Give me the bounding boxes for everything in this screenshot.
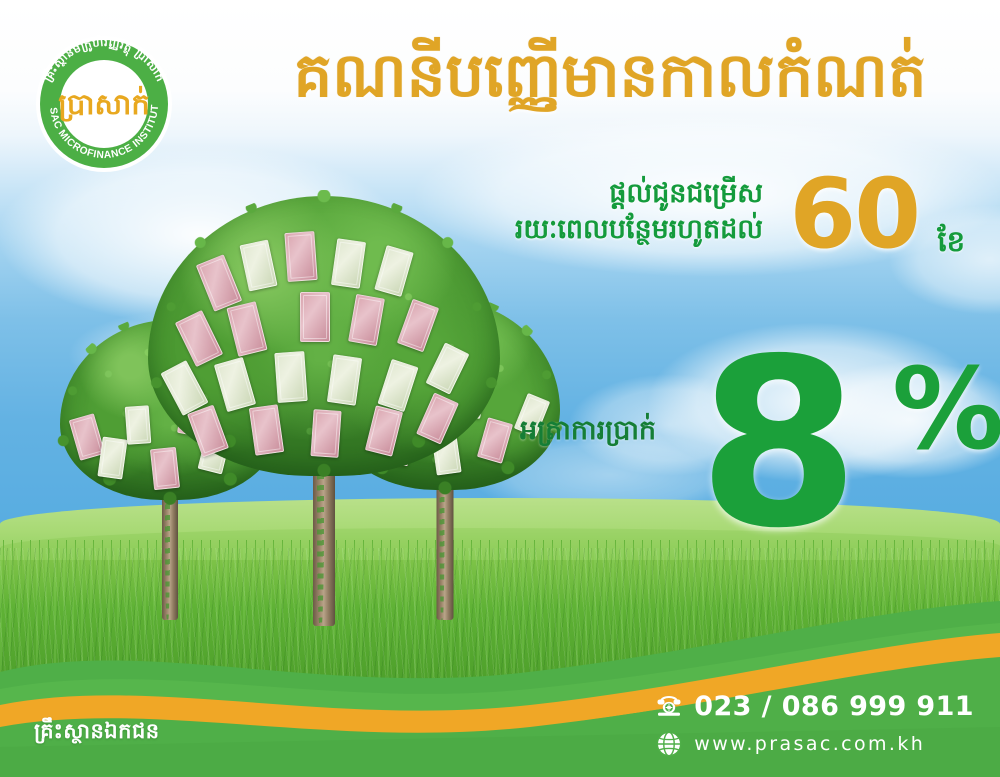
phone-row[interactable]: 023 / 086 999 911 xyxy=(656,693,974,720)
interest-rate-value: 8 xyxy=(698,328,851,560)
interest-rate-block: អត្រាការប្រាក់ 8 % xyxy=(500,352,980,572)
website-row[interactable]: www.prasac.com.kh xyxy=(656,731,974,757)
banknote xyxy=(300,292,330,342)
website-url: www.prasac.com.kh xyxy=(694,735,925,754)
page-title: គណនីបញ្ញើមានកាលកំណត់ xyxy=(230,44,990,108)
prasac-logo[interactable]: គ្រឹះស្ថានមីក្រូហិរញ្ញវត្ថុ ប្រាសាក់ PRA… xyxy=(24,24,184,184)
percent-sign: % xyxy=(892,354,1000,466)
footer-tagline: គ្រឹះស្ថានឯកជន xyxy=(34,718,160,749)
banknote xyxy=(284,231,317,282)
phone-number: 023 / 086 999 911 xyxy=(694,693,974,720)
contact-block: 023 / 086 999 911 www.prasac.com.kh xyxy=(656,693,974,757)
term-description: ផ្តល់ជូនជម្រើស រយៈពេលបន្ថែមរហូតដល់ xyxy=(515,176,763,249)
banknote xyxy=(274,351,307,403)
advertisement-poster: គ្រឹះស្ថានឯកជន 023 / 086 999 911 xyxy=(0,0,1000,777)
banknote xyxy=(310,409,341,458)
term-months-unit: ខែ xyxy=(937,224,965,266)
term-line-2: រយៈពេលបន្ថែមរហូតដល់ xyxy=(515,212,763,248)
interest-rate-label: អត្រាការប្រាក់ xyxy=(520,414,656,453)
term-offer-block: ផ្តល់ជូនជម្រើស រយៈពេលបន្ថែមរហូតដល់ 60 ខែ xyxy=(430,176,985,280)
globe-icon xyxy=(656,731,682,757)
term-line-1: ផ្តល់ជូនជម្រើស xyxy=(515,176,763,212)
footer-band: គ្រឹះស្ថានឯកជន 023 / 086 999 911 xyxy=(0,577,1000,777)
term-months-value: 60 xyxy=(789,166,919,262)
logo-brand-text: ប្រាសាក់ xyxy=(58,85,149,122)
